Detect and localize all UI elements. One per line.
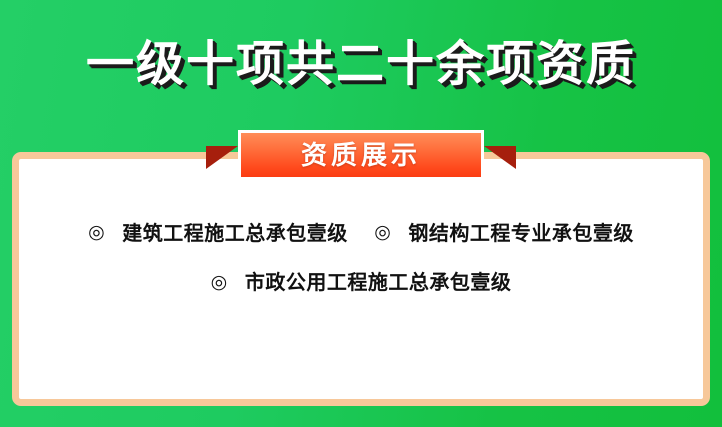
qualification-item: ◎ 建筑工程施工总承包壹级 [88,213,348,254]
qualification-poster: 一级十项共二十余项资质 ◎ 建筑工程施工总承包壹级 ◎ 钢结构工程专业承包壹级 … [0,0,722,427]
city-skyline-illustration [19,295,703,399]
qualification-label: 建筑工程施工总承包壹级 [122,214,348,254]
double-circle-bullet-icon: ◎ [88,223,105,242]
content-card: ◎ 建筑工程施工总承包壹级 ◎ 钢结构工程专业承包壹级 ◎ 市政公用工程施工总承… [12,152,710,406]
ribbon-plate: 资质展示 [238,130,484,180]
qualification-label: 钢结构工程专业承包壹级 [408,214,634,254]
double-circle-bullet-icon: ◎ [374,223,391,242]
qualification-list: ◎ 建筑工程施工总承包壹级 ◎ 钢结构工程专业承包壹级 ◎ 市政公用工程施工总承… [19,213,703,303]
double-circle-bullet-icon: ◎ [211,273,228,292]
ribbon-label: 资质展示 [241,133,481,177]
qualification-item: ◎ 钢结构工程专业承包壹级 [374,213,634,254]
qualification-row: ◎ 建筑工程施工总承包壹级 ◎ 钢结构工程专业承包壹级 [19,213,703,254]
page-title: 一级十项共二十余项资质 [0,34,722,96]
